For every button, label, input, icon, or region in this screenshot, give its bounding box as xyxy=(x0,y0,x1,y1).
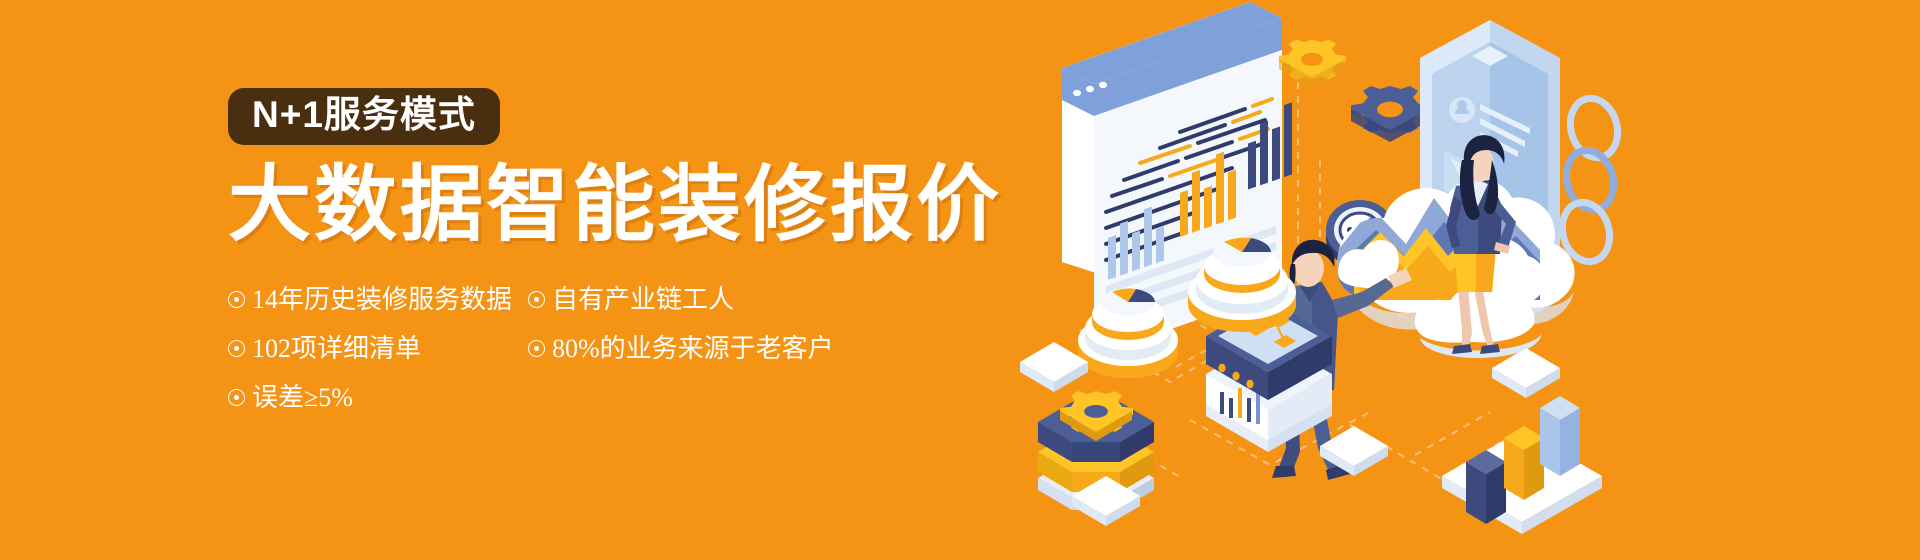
feature-label: 误差≥5% xyxy=(252,380,353,415)
feature-item: 误差≥5% xyxy=(228,380,528,415)
feature-item: 80%的业务来源于老客户 xyxy=(528,331,868,366)
feature-item: 自有产业链工人 xyxy=(528,282,868,317)
feature-list: 14年历史装修服务数据 自有产业链工人 102项详细清单 80%的业务来源于老客… xyxy=(228,282,928,415)
navy-gear-icon xyxy=(1351,86,1430,142)
feature-label: 80%的业务来源于老客户 xyxy=(552,331,834,366)
bullet-dot-icon xyxy=(228,340,245,357)
service-mode-badge: N+1服务模式 xyxy=(228,88,500,145)
feature-item: 102项详细清单 xyxy=(228,331,528,366)
feature-label: 14年历史装修服务数据 xyxy=(252,282,512,317)
bullet-dot-icon xyxy=(228,291,245,308)
hero-banner: N+1服务模式 大数据智能装修报价 14年历史装修服务数据 自有产业链工人 10… xyxy=(0,0,1920,560)
isometric-bar-chart xyxy=(1442,396,1602,534)
bullet-dot-icon xyxy=(528,291,545,308)
yellow-gear-icon xyxy=(1279,40,1346,87)
isometric-illustration xyxy=(1020,0,1660,560)
feature-item: 14年历史装修服务数据 xyxy=(228,282,528,317)
feature-row: 误差≥5% xyxy=(228,380,928,415)
bullet-dot-icon xyxy=(228,389,245,406)
banner-text-block: N+1服务模式 大数据智能装修报价 14年历史装修服务数据 自有产业链工人 10… xyxy=(228,88,988,429)
bullet-dot-icon xyxy=(528,340,545,357)
feature-label: 自有产业链工人 xyxy=(552,282,734,317)
banner-headline: 大数据智能装修报价 xyxy=(228,161,988,248)
ring-stack-icon xyxy=(1556,93,1625,267)
feature-row: 102项详细清单 80%的业务来源于老客户 xyxy=(228,331,928,366)
feature-row: 14年历史装修服务数据 自有产业链工人 xyxy=(228,282,928,317)
feature-label: 102项详细清单 xyxy=(252,331,421,366)
floating-tile-left xyxy=(1020,342,1088,392)
